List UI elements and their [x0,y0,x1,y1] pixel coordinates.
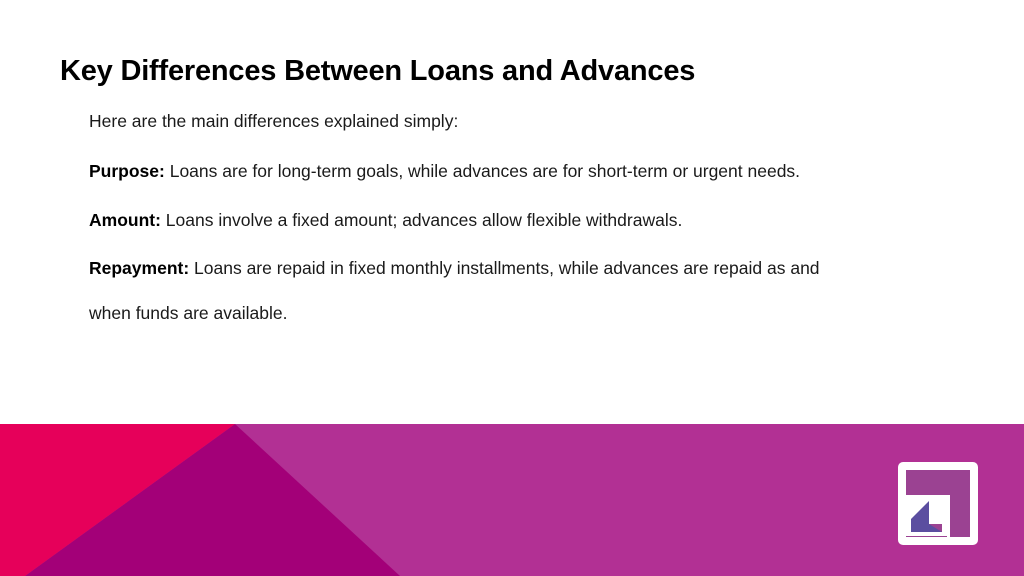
bullet-amount-label: Amount: [89,210,161,230]
bullet-purpose-label: Purpose: [89,161,165,181]
bullet-repayment-text: Loans are repaid in fixed monthly instal… [189,258,819,278]
footer-banner-shapes [0,424,1024,576]
intro-text: Here are the main differences explained … [89,111,458,131]
page-title: Key Differences Between Loans and Advanc… [60,55,695,88]
content-area: Key Differences Between Loans and Advanc… [0,0,1024,424]
bullet-amount: Amount: Loans involve a fixed amount; ad… [89,209,979,231]
slide-root: Key Differences Between Loans and Advanc… [0,0,1024,576]
closing-paragraph: when funds are available. [89,302,979,324]
bullet-amount-text: Loans involve a fixed amount; advances a… [161,210,682,230]
body-text-block: Here are the main differences explained … [89,110,979,352]
logo-separator [947,495,950,537]
bullet-purpose: Purpose: Loans are for long-term goals, … [89,160,979,182]
brand-logo [898,462,978,545]
bullet-repayment: Repayment: Loans are repaid in fixed mon… [89,257,984,279]
footer-banner [0,424,1024,576]
closing-text: when funds are available. [89,303,287,323]
intro-paragraph: Here are the main differences explained … [89,110,979,132]
bullet-purpose-text: Loans are for long-term goals, while adv… [165,161,800,181]
document-corner-logo-icon [898,462,978,545]
bullet-repayment-label: Repayment: [89,258,189,278]
